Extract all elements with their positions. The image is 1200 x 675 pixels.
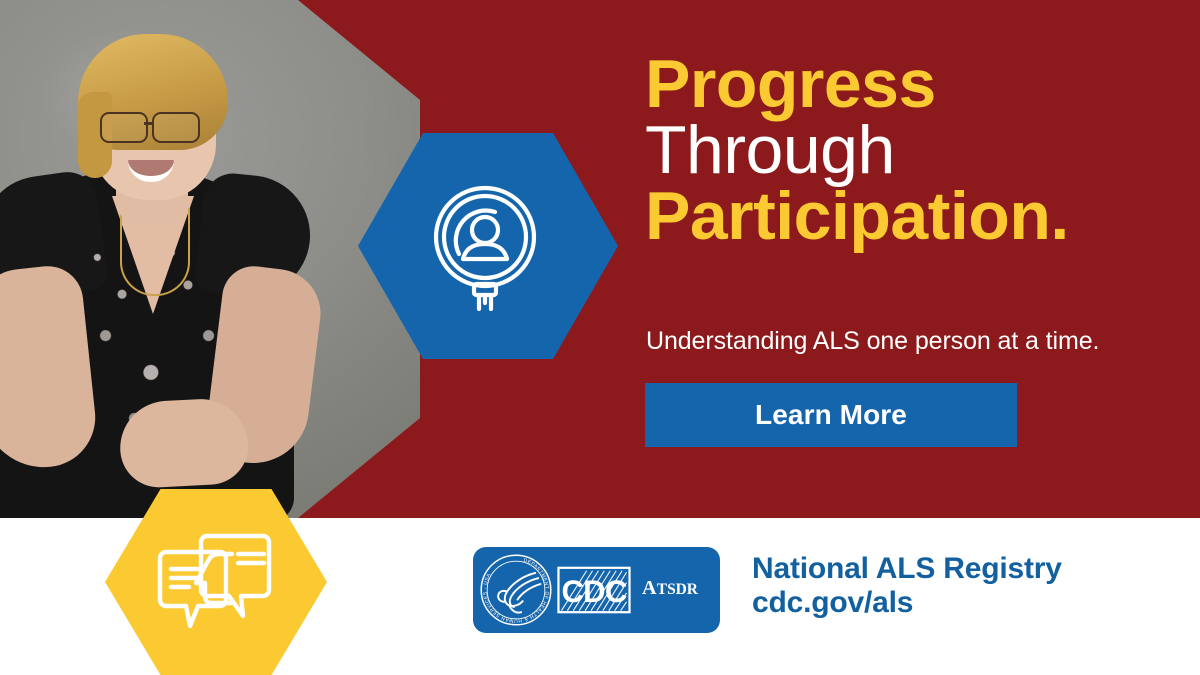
learn-more-button[interactable]: Learn More (645, 383, 1017, 447)
magnifier-person-icon (423, 181, 553, 311)
cdc-wordmark-icon: CDC (557, 566, 631, 614)
person-glasses-right-lens (152, 112, 200, 143)
registry-name: National ALS Registry (752, 552, 1062, 586)
headline: Progress Through Participation. (645, 52, 1165, 250)
person-hands (118, 397, 250, 490)
svg-text:TSDR: TSDR (657, 581, 699, 598)
svg-text:CDC: CDC (561, 574, 626, 609)
footer-registry-text: National ALS Registry cdc.gov/als (752, 552, 1062, 620)
svg-text:A: A (642, 577, 657, 599)
speech-bubbles-profile-icon (154, 530, 278, 634)
participant-photo (0, 0, 420, 518)
headline-line-3: Participation. (645, 184, 1165, 250)
person-glasses-left-lens (100, 112, 148, 143)
cdc-atsdr-logo[interactable]: DEPARTMENT OF HEALTH & HUMAN SERVICES · … (473, 547, 720, 633)
atsdr-wordmark: A TSDR (642, 576, 728, 604)
person-glasses-bridge (144, 122, 154, 125)
als-registry-banner: Progress Through Participation. Understa… (0, 0, 1200, 675)
hhs-seal-icon: DEPARTMENT OF HEALTH & HUMAN SERVICES · … (479, 553, 553, 627)
headline-line-2: Through (645, 118, 1165, 184)
person-figure (0, 0, 420, 518)
headline-line-1: Progress (645, 52, 1165, 118)
subheadline: Understanding ALS one person at a time. (646, 327, 1099, 356)
registry-url: cdc.gov/als (752, 586, 1062, 620)
